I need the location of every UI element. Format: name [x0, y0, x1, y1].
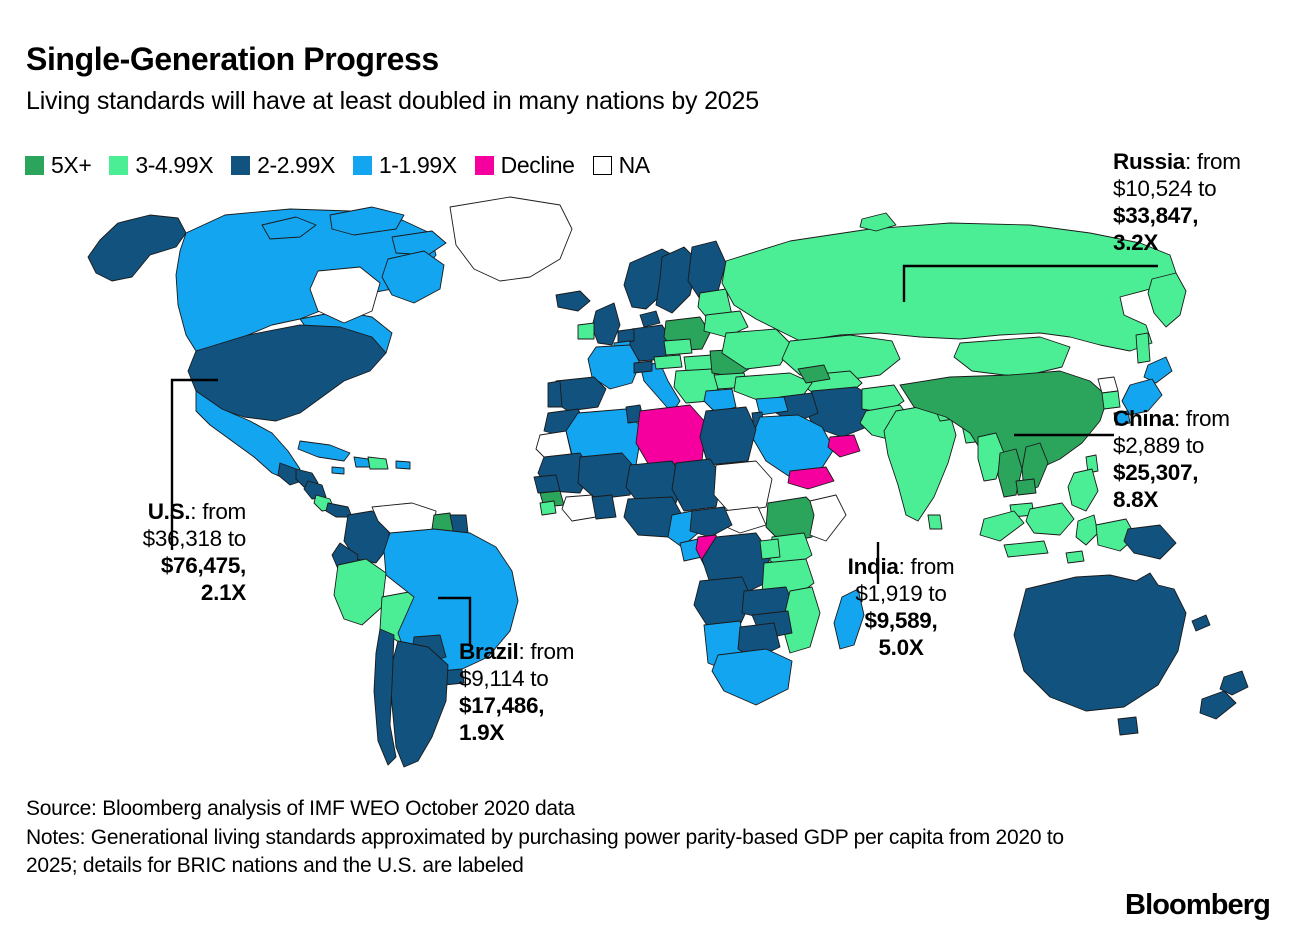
callout-country: China	[1113, 406, 1174, 431]
country-hungary	[684, 355, 714, 371]
callout-country: Brazil	[459, 639, 518, 664]
country-jamaica	[332, 467, 344, 474]
callout-line-4: 2.1X	[56, 579, 246, 606]
callout-line-4: 8.8X	[1113, 486, 1293, 513]
infographic-page: Single-Generation Progress Living standa…	[0, 0, 1296, 940]
country-iceland	[556, 291, 590, 311]
country-russia	[722, 223, 1176, 351]
country-baffin-island	[382, 251, 444, 303]
callout-line-4: 5.0X	[806, 634, 996, 661]
country-austria	[654, 355, 682, 369]
country-india	[884, 405, 956, 521]
bloomberg-logo: Bloomberg	[1125, 889, 1270, 922]
callout-line-3: $25,307,	[1113, 459, 1293, 486]
country-cambodia	[1016, 479, 1036, 495]
country-portugal	[548, 381, 562, 407]
callout-china: China: from $2,889 to $25,307, 8.8X	[1113, 405, 1293, 513]
footer-notes: Source: Bloomberg analysis of IMF WEO Oc…	[26, 795, 1076, 881]
country-new-zealand-south	[1200, 691, 1236, 719]
country-nicaragua	[304, 481, 326, 499]
callout-line-4: 3.2X	[1113, 229, 1293, 256]
country-oman	[828, 435, 860, 457]
country-peru	[334, 559, 386, 625]
callout-country: India	[848, 554, 899, 579]
legend-item-1to199x: 1-1.99X	[353, 154, 457, 177]
country-sulawesi	[1076, 515, 1098, 545]
country-sudan	[714, 461, 772, 513]
callout-us: U.S.: from $36,318 to $76,475, 2.1X	[56, 498, 246, 606]
country-mali	[578, 453, 636, 499]
country-united-kingdom	[592, 303, 620, 345]
legend-label: Decline	[501, 154, 575, 177]
country-java	[1004, 541, 1048, 557]
callout-line-4: 1.9X	[459, 719, 669, 746]
country-greenland	[450, 197, 572, 281]
country-central-african-republic	[690, 507, 732, 537]
callout-sep: : from	[1174, 406, 1230, 431]
country-sumatra	[980, 511, 1024, 541]
country-sri-lanka	[928, 515, 942, 529]
callout-line-2: $36,318 to	[56, 525, 246, 552]
callout-line-3: $17,486,	[459, 692, 669, 719]
country-denmark	[640, 311, 660, 327]
callout-line-1: U.S.: from	[56, 498, 246, 525]
island-tasmania	[1118, 717, 1138, 735]
country-sierra-leone	[540, 501, 556, 515]
country-cuba	[298, 441, 350, 461]
country-mongolia	[954, 337, 1070, 377]
country-switzerland	[634, 361, 652, 373]
callout-line-2: $9,114 to	[459, 665, 669, 692]
callout-brazil: Brazil: from $9,114 to $17,486, 1.9X	[459, 638, 669, 746]
country-uganda	[760, 539, 780, 559]
country-sakhalin	[1136, 333, 1150, 363]
callout-india: India: from $1,919 to $9,589, 5.0X	[806, 553, 996, 661]
country-netherlands	[618, 329, 634, 343]
source-text: Source: Bloomberg analysis of IMF WEO Oc…	[26, 795, 1076, 824]
country-timor	[1066, 551, 1084, 563]
callout-russia: Russia: from $10,524 to $33,847, 3.2X	[1113, 148, 1293, 256]
country-senegal	[534, 475, 560, 493]
callout-sep: : from	[899, 554, 955, 579]
legend: 5X+ 3-4.99X 2-2.99X 1-1.99X Decline NA	[25, 151, 668, 179]
country-philippines	[1068, 469, 1098, 511]
island-new-caledonia	[1192, 615, 1210, 631]
country-south-africa	[712, 649, 792, 705]
callout-line-1: China: from	[1113, 405, 1293, 432]
country-egypt	[700, 407, 756, 465]
page-subtitle: Living standards will have at least doub…	[26, 86, 759, 116]
country-north-korea	[1098, 377, 1118, 393]
country-libya	[636, 405, 706, 467]
legend-item-decline: Decline	[475, 154, 575, 177]
legend-item-2to299x: 2-2.99X	[231, 154, 335, 177]
page-title: Single-Generation Progress	[26, 40, 439, 78]
legend-label: 5X+	[51, 154, 91, 177]
legend-label: 1-1.99X	[379, 154, 457, 177]
country-somalia	[810, 495, 846, 541]
country-papua-new-guinea	[1124, 525, 1176, 559]
legend-item-3to499x: 3-4.99X	[109, 154, 213, 177]
callout-country: Russia	[1113, 149, 1185, 174]
legend-swatch-icon	[109, 156, 128, 175]
callout-line-2: $1,919 to	[806, 580, 996, 607]
callout-line-3: $33,847,	[1113, 202, 1293, 229]
country-dominican-republic	[368, 457, 388, 469]
notes-text: Notes: Generational living standards app…	[26, 824, 1076, 881]
callout-sep: : from	[518, 639, 574, 664]
callout-line-1: India: from	[806, 553, 996, 580]
country-haiti	[354, 457, 370, 467]
country-argentina	[390, 641, 448, 767]
callout-line-3: $9,589,	[806, 607, 996, 634]
country-czechia	[664, 339, 692, 355]
callout-sep: : from	[190, 499, 246, 524]
legend-item-na: NA	[593, 154, 650, 177]
country-australia	[1014, 573, 1186, 711]
country-ghana	[592, 495, 616, 519]
country-yemen	[788, 467, 834, 489]
callout-line-3: $76,475,	[56, 552, 246, 579]
country-cote-divoire	[562, 495, 596, 521]
callout-line-1: Brazil: from	[459, 638, 669, 665]
legend-label: 2-2.99X	[257, 154, 335, 177]
callout-line-1: Russia: from	[1113, 148, 1293, 175]
callout-line-2: $2,889 to	[1113, 432, 1293, 459]
country-russia-kamchatka	[1148, 273, 1186, 327]
country-ireland	[578, 323, 594, 339]
legend-swatch-icon	[593, 156, 612, 175]
legend-swatch-icon	[475, 156, 494, 175]
legend-swatch-icon	[25, 156, 44, 175]
callout-line-2: $10,524 to	[1113, 175, 1293, 202]
country-puerto-rico	[396, 461, 410, 469]
country-alaska	[88, 215, 186, 281]
callout-country: U.S.	[148, 499, 191, 524]
legend-swatch-icon	[231, 156, 250, 175]
legend-label: 3-4.99X	[135, 154, 213, 177]
legend-label: NA	[619, 154, 650, 177]
legend-swatch-icon	[353, 156, 372, 175]
legend-item-5x: 5X+	[25, 154, 91, 177]
callout-sep: : from	[1185, 149, 1241, 174]
